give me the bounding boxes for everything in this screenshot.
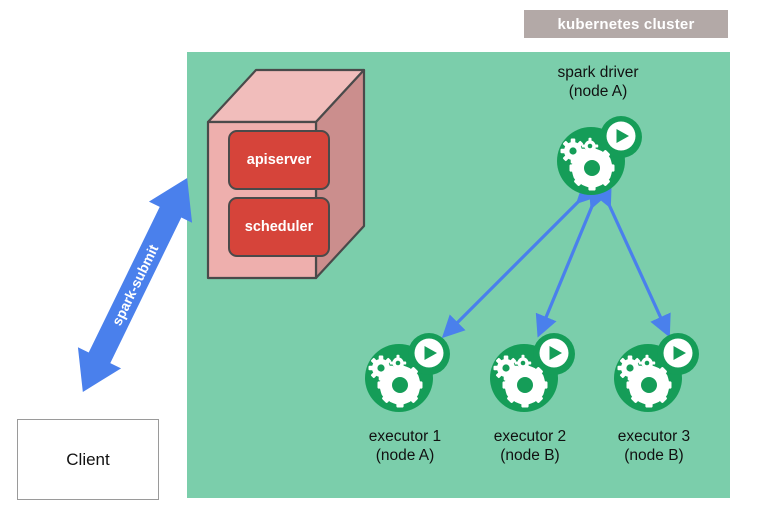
executor-3-caption-line2: (node B)	[584, 446, 724, 465]
executor-1-node[interactable]	[359, 330, 451, 414]
apiserver-component[interactable]: apiserver	[228, 130, 330, 190]
spark-driver-caption-line2: (node A)	[528, 82, 668, 101]
kubernetes-cluster-badge-label: kubernetes cluster	[558, 16, 695, 33]
executor-3-caption: executor 3 (node B)	[584, 427, 724, 465]
spark-submit-arrow	[55, 160, 215, 410]
scheduler-component[interactable]: scheduler	[228, 197, 330, 257]
executor-2-node[interactable]	[484, 330, 576, 414]
scheduler-label: scheduler	[245, 219, 314, 235]
gears-play-icon	[484, 330, 576, 414]
executor-1-caption-line2: (node A)	[335, 446, 475, 465]
executor-3-caption-line1: executor 3	[584, 427, 724, 446]
executor-2-caption-line1: executor 2	[460, 427, 600, 446]
client-box[interactable]: Client	[17, 419, 159, 500]
executor-1-caption: executor 1 (node A)	[335, 427, 475, 465]
executor-2-caption-line2: (node B)	[460, 446, 600, 465]
spark-driver-caption-line1: spark driver	[528, 63, 668, 82]
executor-2-caption: executor 2 (node B)	[460, 427, 600, 465]
executor-1-caption-line1: executor 1	[335, 427, 475, 446]
executor-3-node[interactable]	[608, 330, 700, 414]
diagram-canvas: kubernetes cluster apiserver scheduler s…	[0, 0, 761, 516]
spark-driver-caption: spark driver (node A)	[528, 63, 668, 101]
gears-play-icon	[359, 330, 451, 414]
kubernetes-control-plane-cube: apiserver scheduler	[206, 68, 366, 280]
spark-driver-node[interactable]	[551, 113, 643, 197]
client-label: Client	[66, 450, 109, 470]
apiserver-label: apiserver	[247, 152, 312, 168]
gears-play-icon	[551, 113, 643, 197]
kubernetes-cluster-badge: kubernetes cluster	[524, 10, 728, 38]
gears-play-icon	[608, 330, 700, 414]
